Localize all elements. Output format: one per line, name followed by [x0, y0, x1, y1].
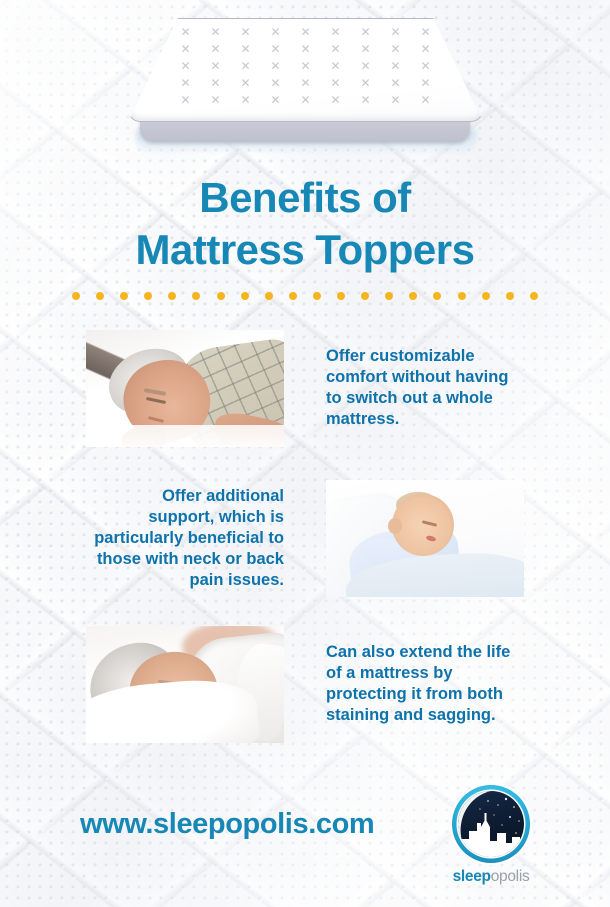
- photo-elderly-man-sleeping: [86, 330, 284, 447]
- topper-top-surface: ✕ ✕ ✕ ✕ ✕ ✕ ✕ ✕ ✕ ✕ ✕ ✕ ✕ ✕ ✕ ✕: [128, 18, 483, 124]
- benefit-row-3: Can also extend the life of a mattress b…: [0, 624, 610, 744]
- divider-dot: [458, 292, 466, 300]
- x-mark-icon: ✕: [411, 77, 441, 89]
- x-mark-icon: ✕: [291, 94, 321, 106]
- divider-dot: [361, 292, 369, 300]
- x-mark-icon: ✕: [321, 94, 351, 106]
- x-mark-icon: ✕: [231, 94, 261, 106]
- sleepopolis-logo[interactable]: sleepopolis: [445, 783, 537, 886]
- x-mark-icon: ✕: [411, 94, 441, 106]
- divider-dot: [289, 292, 297, 300]
- x-mark-icon: ✕: [321, 77, 351, 89]
- infographic-canvas: ✕ ✕ ✕ ✕ ✕ ✕ ✕ ✕ ✕ ✕ ✕ ✕ ✕ ✕ ✕ ✕: [0, 0, 610, 907]
- night-skyline-icon: [450, 783, 532, 865]
- sleepopolis-wordmark: sleepopolis: [445, 868, 537, 886]
- x-mark-icon: ✕: [171, 43, 201, 55]
- x-mark-icon: ✕: [201, 60, 231, 72]
- page-title: Benefits of Mattress Toppers: [0, 172, 610, 276]
- x-mark-icon: ✕: [381, 26, 411, 38]
- divider-dot: [241, 292, 249, 300]
- x-mark-icon: ✕: [231, 26, 261, 38]
- topper-x-row: ✕ ✕ ✕ ✕ ✕ ✕ ✕ ✕ ✕: [128, 26, 483, 38]
- x-mark-icon: ✕: [381, 43, 411, 55]
- x-mark-icon: ✕: [321, 60, 351, 72]
- divider-dot: [385, 292, 393, 300]
- divider-dot: [72, 292, 80, 300]
- bed-sheet: [86, 425, 284, 447]
- x-mark-icon: ✕: [231, 77, 261, 89]
- wordmark-opolis: opolis: [491, 868, 530, 885]
- benefit-text-1: Offer customizable comfort without havin…: [326, 346, 526, 430]
- x-mark-icon: ✕: [201, 43, 231, 55]
- x-mark-icon: ✕: [261, 60, 291, 72]
- x-mark-icon: ✕: [201, 94, 231, 106]
- sleepopolis-night-skyline-badge: [450, 783, 532, 865]
- x-mark-icon: ✕: [171, 94, 201, 106]
- mattress-topper-illustration: ✕ ✕ ✕ ✕ ✕ ✕ ✕ ✕ ✕ ✕ ✕ ✕ ✕ ✕ ✕ ✕: [128, 18, 483, 158]
- divider-dot: [337, 292, 345, 300]
- divider-dot: [313, 292, 321, 300]
- title-line-2: Mattress Toppers: [0, 224, 610, 276]
- x-mark-icon: ✕: [351, 77, 381, 89]
- divider-dot: [433, 292, 441, 300]
- wordmark-sleep: sleep: [453, 868, 491, 885]
- website-url[interactable]: www.sleepopolis.com: [80, 808, 374, 841]
- divider-dot: [409, 292, 417, 300]
- x-mark-icon: ✕: [261, 26, 291, 38]
- benefit-text-3: Can also extend the life of a mattress b…: [326, 642, 526, 726]
- x-mark-icon: ✕: [351, 26, 381, 38]
- x-mark-icon: ✕: [411, 43, 441, 55]
- x-mark-icon: ✕: [291, 60, 321, 72]
- divider-dot: [530, 292, 538, 300]
- x-mark-icon: ✕: [381, 77, 411, 89]
- x-mark-icon: ✕: [201, 26, 231, 38]
- divider-dot: [120, 292, 128, 300]
- x-mark-icon: ✕: [321, 26, 351, 38]
- x-mark-icon: ✕: [261, 94, 291, 106]
- divider-dot: [506, 292, 514, 300]
- benefit-row-2: Offer additional support, which is parti…: [0, 478, 610, 598]
- topper-x-row: ✕ ✕ ✕ ✕ ✕ ✕ ✕ ✕ ✕: [128, 77, 483, 89]
- divider-dot: [144, 292, 152, 300]
- x-mark-icon: ✕: [351, 94, 381, 106]
- x-mark-icon: ✕: [381, 94, 411, 106]
- x-mark-icon: ✕: [201, 77, 231, 89]
- benefit-text-2: Offer additional support, which is parti…: [94, 486, 284, 591]
- x-mark-icon: ✕: [411, 60, 441, 72]
- x-mark-icon: ✕: [291, 26, 321, 38]
- divider-dot: [192, 292, 200, 300]
- divider-dot: [265, 292, 273, 300]
- divider-dot: [96, 292, 104, 300]
- divider-dot: [482, 292, 490, 300]
- x-mark-icon: ✕: [351, 60, 381, 72]
- photo-baby-sleeping: [326, 480, 524, 597]
- x-mark-icon: ✕: [261, 77, 291, 89]
- topper-x-row: ✕ ✕ ✕ ✕ ✕ ✕ ✕ ✕ ✕: [128, 43, 483, 55]
- divider-dot: [168, 292, 176, 300]
- x-mark-icon: ✕: [231, 60, 261, 72]
- benefit-row-1: Offer customizable comfort without havin…: [0, 328, 610, 448]
- x-mark-icon: ✕: [261, 43, 291, 55]
- x-mark-icon: ✕: [231, 43, 261, 55]
- photo-elderly-woman-sleeping: [86, 626, 284, 743]
- x-mark-icon: ✕: [171, 77, 201, 89]
- topper-x-mark-grid: ✕ ✕ ✕ ✕ ✕ ✕ ✕ ✕ ✕ ✕ ✕ ✕ ✕ ✕ ✕ ✕: [128, 26, 483, 118]
- x-mark-icon: ✕: [321, 43, 351, 55]
- x-mark-icon: ✕: [351, 43, 381, 55]
- title-line-1: Benefits of: [0, 172, 610, 224]
- topper-x-row: ✕ ✕ ✕ ✕ ✕ ✕ ✕ ✕ ✕: [128, 60, 483, 72]
- dotted-divider: [72, 292, 538, 300]
- x-mark-icon: ✕: [291, 43, 321, 55]
- x-mark-icon: ✕: [171, 60, 201, 72]
- topper-x-row: ✕ ✕ ✕ ✕ ✕ ✕ ✕ ✕ ✕: [128, 94, 483, 106]
- x-mark-icon: ✕: [291, 77, 321, 89]
- x-mark-icon: ✕: [381, 60, 411, 72]
- divider-dot: [217, 292, 225, 300]
